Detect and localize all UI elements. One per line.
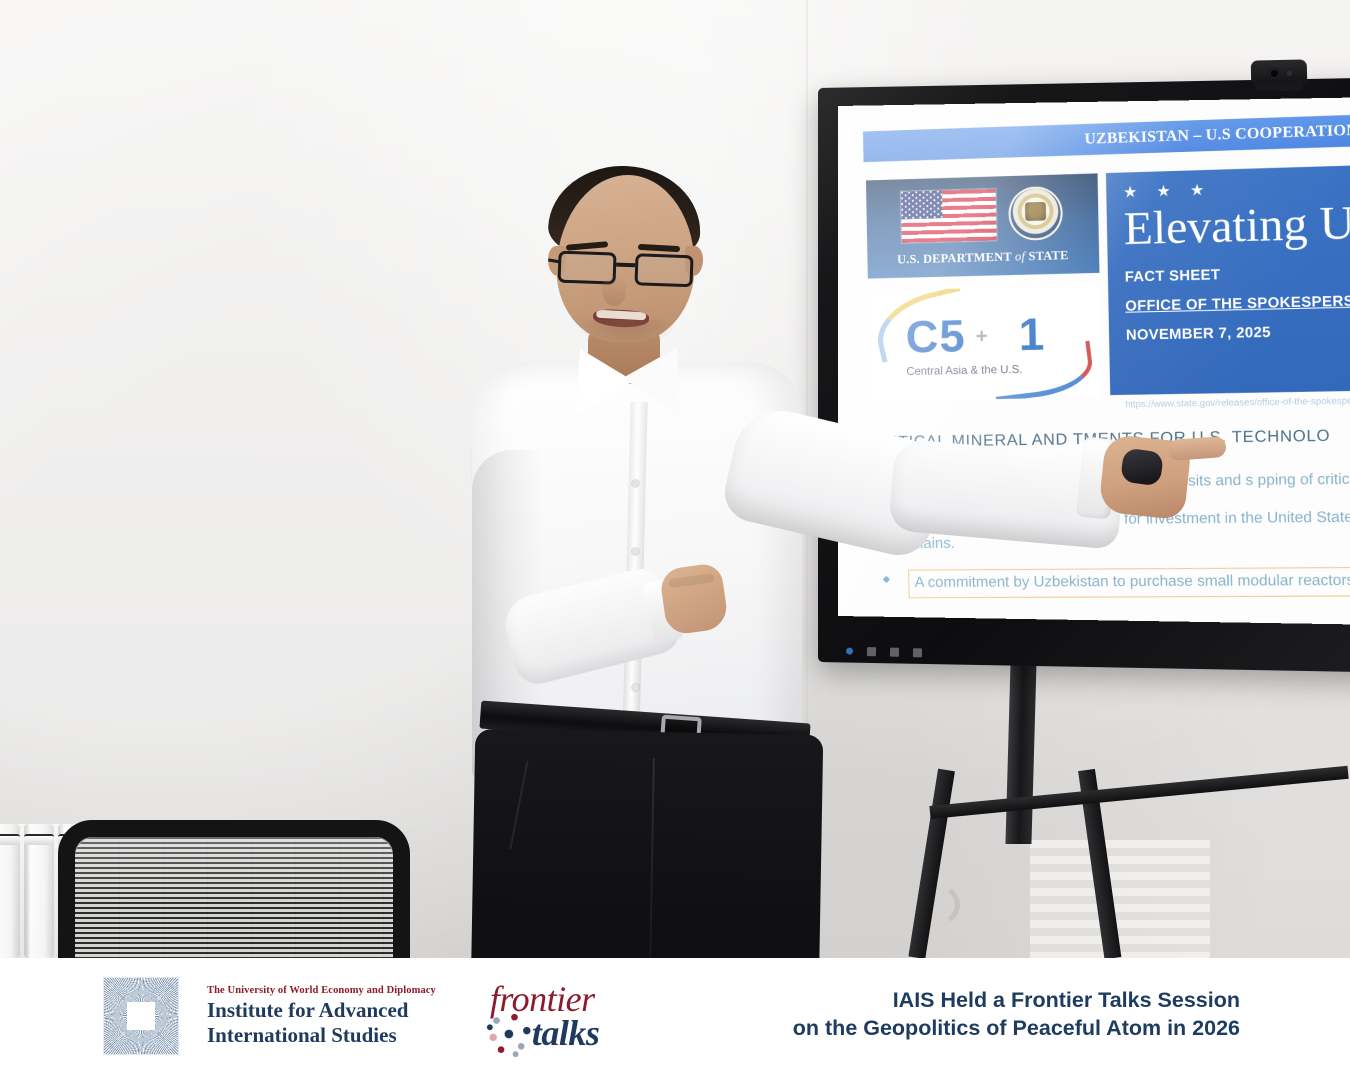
webcam-icon <box>1251 59 1308 86</box>
shirt-button <box>632 548 639 555</box>
footer-bar: The University of World Economy and Dipl… <box>0 958 1350 1080</box>
shirt-button <box>632 684 639 691</box>
caption-line-1: IAIS Held a Frontier Talks Session <box>600 986 1240 1014</box>
iais-name-line-2: International Studies <box>207 1023 436 1048</box>
presenter-pointing-finger <box>1167 436 1226 461</box>
presenter-chin-shadow <box>576 320 676 346</box>
caption-line-2: on the Geopolitics of Peaceful Atom in 2… <box>600 1014 1240 1042</box>
iais-wordmark: The University of World Economy and Dipl… <box>207 985 436 1048</box>
slide-title-text: UZBEKISTAN – U.S COOPERATION in the fiel… <box>1084 119 1350 149</box>
caption: IAIS Held a Frontier Talks Session on th… <box>600 986 1240 1043</box>
eyeglasses-icon <box>555 251 698 290</box>
iais-university-line: The University of World Economy and Dipl… <box>207 985 436 996</box>
frontier-talks-word-talks: talks <box>532 1012 600 1054</box>
mesh-office-chair <box>58 820 410 958</box>
presenter-nose <box>602 276 626 306</box>
presenter-trousers <box>469 729 824 958</box>
event-photo: UZBEKISTAN – U.S COOPERATION in the fiel… <box>0 0 1350 958</box>
presenter <box>380 150 1160 958</box>
iais-name-line-1: Institute for Advanced <box>207 998 436 1023</box>
iais-guilloche-mark-icon <box>103 977 179 1055</box>
page-root: UZBEKISTAN – U.S COOPERATION in the fiel… <box>0 0 1350 1080</box>
shirt-button <box>632 480 639 487</box>
footer-logos: The University of World Economy and Dipl… <box>103 976 624 1056</box>
